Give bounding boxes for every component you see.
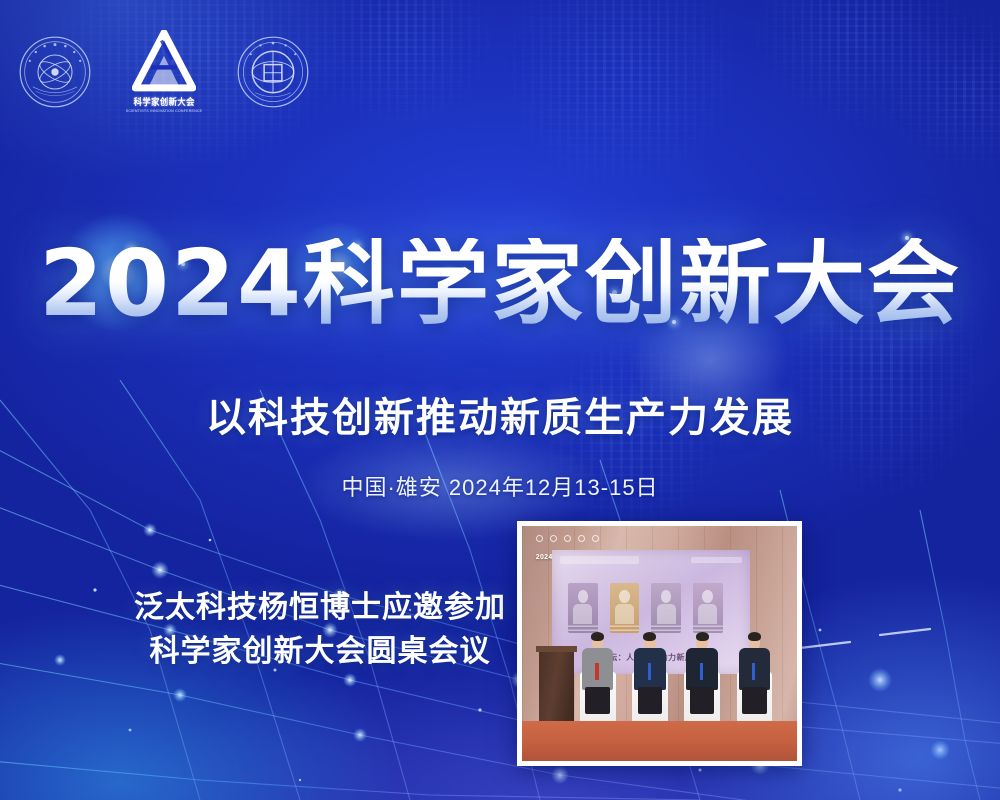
event-date-location: 中国·雄安 2024年12月13-15日	[0, 470, 1000, 502]
emblem-cn-label: 科学家创新大会	[133, 95, 194, 108]
institute-seal-icon	[236, 35, 310, 109]
caption-line-2: 科学家创新大会圆桌会议	[120, 630, 520, 674]
screen-header-right	[691, 557, 742, 563]
banner-icon	[550, 535, 557, 542]
screen-speaker-portrait	[693, 583, 723, 633]
banner-icon	[564, 535, 571, 542]
photo-panelist	[737, 634, 773, 714]
conference-emblem: 科学家创新大会 SCIENTISTS INNOVATION CONFERENCE	[118, 30, 210, 113]
banner-icon	[578, 535, 585, 542]
photo-panelist	[684, 634, 720, 714]
screen-speaker-portrait	[610, 583, 640, 633]
roundtable-photo-frame: 2024科学家创新大会 圆桌论坛：人工智能助力新质生产力	[517, 521, 802, 766]
photo-podium-top	[536, 646, 577, 652]
caption-block: 泛太科技杨恒博士应邀参加 科学家创新大会圆桌会议	[120, 586, 520, 675]
organizer-logo-row: 科学家创新大会 SCIENTISTS INNOVATION CONFERENCE	[18, 30, 310, 113]
academy-seal-icon	[18, 35, 92, 109]
photo-banner-icons	[536, 535, 599, 542]
screen-header-left	[560, 556, 639, 565]
banner-icon	[536, 535, 543, 542]
triangle-emblem-icon	[132, 30, 196, 92]
photo-panelist	[580, 634, 616, 714]
photo-panelist	[632, 634, 668, 714]
banner-icon	[592, 535, 599, 542]
caption-line-1: 泛太科技杨恒博士应邀参加	[120, 586, 520, 630]
roundtable-photo: 2024科学家创新大会 圆桌论坛：人工智能助力新质生产力	[522, 526, 797, 761]
screen-speaker-portrait	[568, 583, 598, 633]
screen-speaker-portrait	[651, 583, 681, 633]
page-subtitle: 以科技创新推动新质生产力发展	[0, 385, 1000, 443]
conference-poster: 科学家创新大会 SCIENTISTS INNOVATION CONFERENCE…	[0, 0, 1000, 800]
photo-podium	[539, 651, 575, 722]
photo-stage-floor	[522, 721, 797, 761]
emblem-en-label: SCIENTISTS INNOVATION CONFERENCE	[126, 109, 203, 113]
page-title: 2024科学家创新大会	[0, 238, 1000, 330]
